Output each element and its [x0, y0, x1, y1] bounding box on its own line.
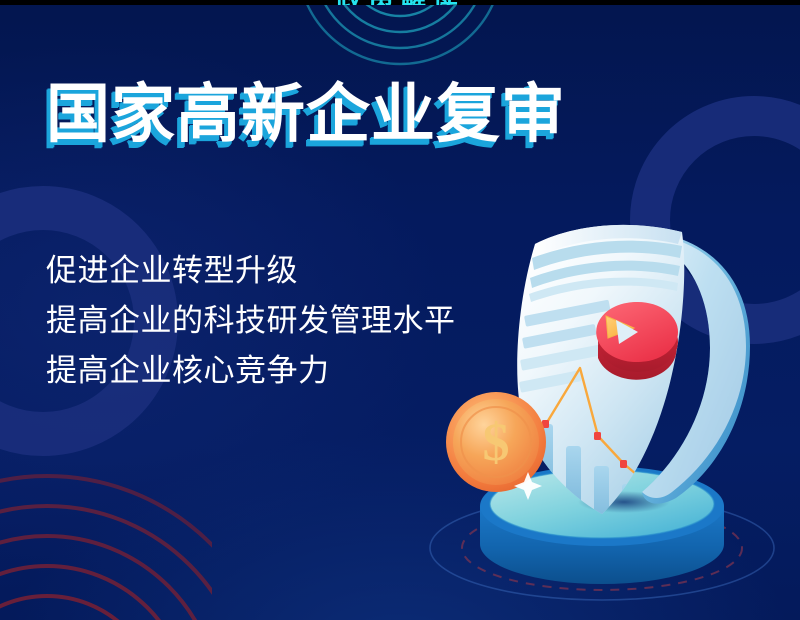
benefit-item-3: 提高企业核心竞争力 — [46, 346, 456, 396]
top-cropped-strip: 政策解读 — [0, 0, 800, 5]
pie-chart — [596, 302, 678, 380]
poster-canvas: $ 国家高新企业复审 促进企业转型升级 提高企业的科技研发管理水平 提高企业核心… — [0, 0, 800, 620]
benefit-item-1: 促进企业转型升级 — [46, 246, 456, 296]
gold-coin: $ — [446, 392, 546, 500]
headline-block: 国家高新企业复审 — [46, 82, 566, 146]
hero-illustration: $ — [420, 196, 790, 616]
page-title: 国家高新企业复审 — [46, 82, 566, 146]
benefit-list: 促进企业转型升级 提高企业的科技研发管理水平 提高企业核心竞争力 — [46, 246, 456, 397]
coin-currency-symbol: $ — [483, 412, 510, 472]
top-banner-label: 政策解读 — [336, 0, 464, 5]
benefit-item-2: 提高企业的科技研发管理水平 — [46, 296, 456, 346]
